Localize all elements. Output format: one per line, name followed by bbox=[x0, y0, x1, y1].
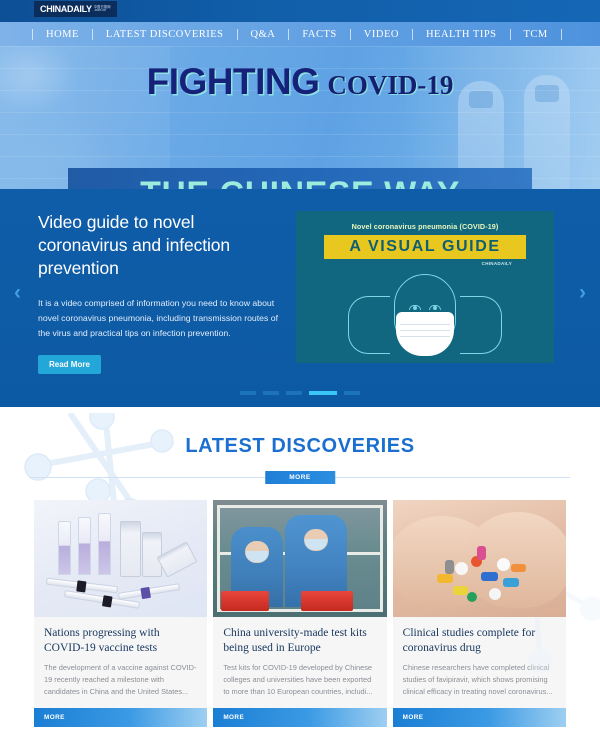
hero-title-line1: FIGHTINGCOVID-19 bbox=[0, 63, 600, 100]
carousel-text-column: Video guide to novel coronavirus and inf… bbox=[30, 211, 280, 374]
pill-shape bbox=[445, 560, 454, 574]
card-description: The development of a vaccine against COV… bbox=[44, 662, 197, 698]
card-title: Nations progressing with COVID-19 vaccin… bbox=[44, 626, 197, 655]
page-root: CHINADAILY 中国日报网 .com.cn HOME LATEST DIS… bbox=[0, 0, 600, 742]
face-mask-icon bbox=[396, 312, 454, 356]
hero-title-bar: THE CHINESE WAY bbox=[68, 168, 532, 189]
pill-shape bbox=[477, 546, 486, 560]
card-image-hands-with-pills bbox=[393, 500, 566, 617]
nav-item-health-tips[interactable]: HEALTH TIPS bbox=[413, 29, 510, 40]
carousel-slide: Video guide to novel coronavirus and inf… bbox=[30, 211, 570, 374]
pill-shape bbox=[489, 588, 501, 600]
video-thumbnail[interactable]: Novel coronavirus pneumonia (COVID-19) A… bbox=[296, 211, 554, 363]
syringe-shape bbox=[46, 578, 118, 594]
card-more-button[interactable]: MORE bbox=[213, 708, 386, 727]
discovery-card[interactable]: Nations progressing with COVID-19 vaccin… bbox=[34, 500, 207, 727]
carousel-dot-active[interactable] bbox=[309, 391, 337, 395]
arm-left-shape bbox=[348, 296, 390, 354]
nav-item-home[interactable]: HOME bbox=[33, 29, 92, 40]
nav-item-qa[interactable]: Q&A bbox=[238, 29, 289, 40]
discovery-card[interactable]: China university-made test kits being us… bbox=[213, 500, 386, 727]
bottle-shape bbox=[157, 541, 198, 577]
pupil-left bbox=[413, 306, 417, 310]
discovery-card[interactable]: Clinical studies complete for coronaviru… bbox=[393, 500, 566, 727]
bottle-shape bbox=[142, 532, 162, 577]
card-body: China university-made test kits being us… bbox=[213, 617, 386, 702]
nav-item-latest-discoveries[interactable]: LATEST DISCOVERIES bbox=[93, 29, 237, 40]
pill-shape bbox=[453, 586, 468, 595]
read-more-button[interactable]: Read More bbox=[38, 355, 101, 374]
card-title: China university-made test kits being us… bbox=[223, 626, 376, 655]
pill-shape bbox=[437, 574, 453, 583]
vial-shape bbox=[98, 513, 111, 575]
card-image-lab-technicians bbox=[213, 500, 386, 617]
thumbnail-title-band: A VISUAL GUIDE bbox=[324, 235, 526, 259]
mask-illustration bbox=[296, 266, 554, 363]
section-more-button[interactable]: MORE bbox=[265, 471, 335, 484]
top-bar: CHINADAILY 中国日报网 .com.cn bbox=[0, 0, 600, 22]
pill-shape bbox=[497, 558, 510, 571]
main-navigation: HOME LATEST DISCOVERIES Q&A FACTS VIDEO … bbox=[0, 22, 600, 46]
vial-shape bbox=[58, 521, 71, 575]
thumbnail-title: A VISUAL GUIDE bbox=[349, 238, 500, 255]
pupil-right bbox=[433, 306, 437, 310]
nav-item-video[interactable]: VIDEO bbox=[351, 29, 412, 40]
nav-item-tcm[interactable]: TCM bbox=[511, 29, 561, 40]
carousel-next-icon[interactable]: › bbox=[579, 282, 586, 303]
card-body: Nations progressing with COVID-19 vaccin… bbox=[34, 617, 207, 702]
lab-tray-shape bbox=[221, 591, 269, 611]
lab-tray-shape bbox=[301, 591, 353, 611]
discovery-cards: Nations progressing with COVID-19 vaccin… bbox=[0, 484, 600, 727]
card-description: Test kits for COVID-19 developed by Chin… bbox=[223, 662, 376, 698]
chinadaily-logo[interactable]: CHINADAILY 中国日报网 .com.cn bbox=[34, 1, 117, 17]
hero-word-covid19: COVID-19 bbox=[327, 70, 453, 100]
card-more-button[interactable]: MORE bbox=[34, 708, 207, 727]
card-image-vaccine-vials bbox=[34, 500, 207, 617]
carousel-dot[interactable] bbox=[286, 391, 302, 395]
pill-shape bbox=[503, 578, 519, 587]
nav-item-facts[interactable]: FACTS bbox=[289, 29, 349, 40]
card-more-button[interactable]: MORE bbox=[393, 708, 566, 727]
logo-subtext: 中国日报网 .com.cn bbox=[94, 6, 111, 13]
pill-shape bbox=[481, 572, 498, 581]
latest-discoveries-section: LATEST DISCOVERIES MORE bbox=[0, 407, 600, 742]
carousel-dot[interactable] bbox=[344, 391, 360, 395]
vial-shape bbox=[78, 517, 91, 575]
pill-shape bbox=[467, 592, 477, 602]
logo-wordmark: CHINADAILY bbox=[40, 4, 92, 14]
pill-shape bbox=[511, 564, 526, 572]
carousel-heading: Video guide to novel coronavirus and inf… bbox=[38, 211, 280, 280]
carousel-prev-icon[interactable]: ‹ bbox=[14, 282, 21, 303]
arm-right-shape bbox=[460, 296, 502, 354]
thumbnail-caption: Novel coronavirus pneumonia (COVID-19) bbox=[296, 211, 554, 231]
carousel-description: It is a video comprised of information y… bbox=[38, 296, 280, 341]
hero-banner: FIGHTINGCOVID-19 THE CHINESE WAY bbox=[0, 46, 600, 189]
hero-word-fighting: FIGHTING bbox=[147, 61, 320, 102]
carousel-indicators bbox=[0, 391, 600, 395]
nav-separator bbox=[561, 29, 562, 40]
carousel-dot[interactable] bbox=[263, 391, 279, 395]
logo-url-text: .com.cn bbox=[94, 9, 111, 12]
section-more-row: MORE bbox=[0, 471, 600, 484]
carousel-dot[interactable] bbox=[240, 391, 256, 395]
hero-title-line2: THE CHINESE WAY bbox=[140, 175, 460, 189]
bottle-shape bbox=[120, 521, 141, 577]
featured-carousel: ‹ › Video guide to novel coronavirus and… bbox=[0, 189, 600, 407]
syringe-shape bbox=[118, 583, 180, 600]
pill-shape bbox=[455, 562, 468, 575]
